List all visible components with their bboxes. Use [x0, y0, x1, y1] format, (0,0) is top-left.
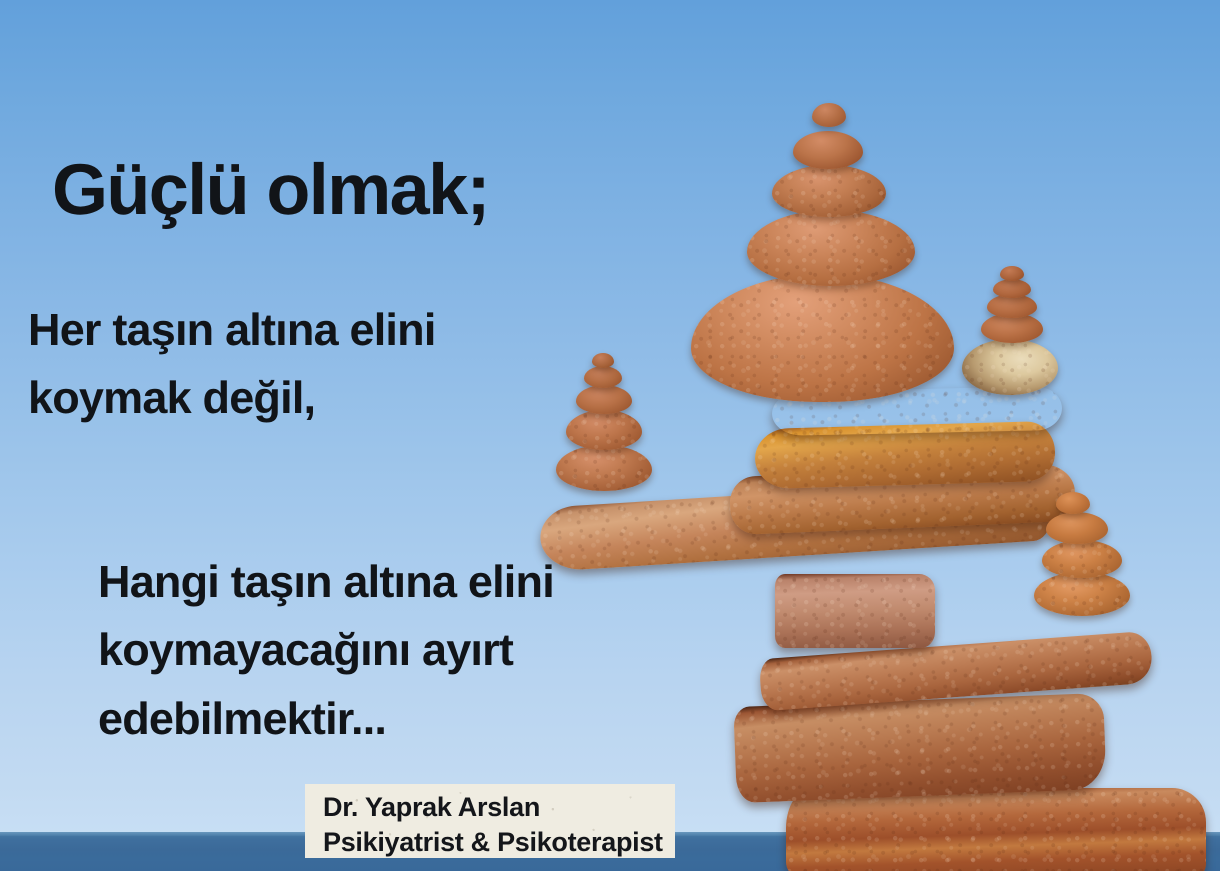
quote-paragraph-1: Her taşın altına elini koymak değil,: [28, 296, 436, 433]
right-lower-cairn-stone-2: [1042, 540, 1122, 578]
right-lower-cairn-stone-1: [1034, 572, 1130, 616]
main-stone-pink-brick: [775, 574, 935, 648]
main-stone-medium-oval: [747, 210, 915, 286]
main-stone-tiny-oval: [793, 131, 863, 169]
right-upper-cairn-cream-base: [962, 339, 1058, 395]
main-stone-small-oval: [772, 165, 886, 217]
right-upper-cairn-stone-4: [993, 279, 1031, 298]
left-cairn-stone-4: [584, 366, 622, 388]
page-title: Güçlü olmak;: [52, 152, 489, 228]
author-name: Dr. Yaprak Arslan: [323, 790, 675, 825]
left-cairn-stone-3: [576, 385, 632, 414]
author-credit-box: Dr. Yaprak Arslan Psikiyatrist & Psikote…: [305, 784, 675, 858]
main-stone-bottom-boulder: [786, 788, 1206, 871]
right-upper-cairn-stone-cap: [1000, 266, 1024, 281]
main-stone-block: [733, 693, 1106, 803]
poster-canvas: Güçlü olmak; Her taşın altına elini koym…: [0, 0, 1220, 871]
main-stone-cap: [812, 103, 846, 127]
left-cairn-stone-1: [556, 445, 652, 491]
left-cairn-stone-cap: [592, 353, 614, 368]
right-lower-cairn-stone-3: [1046, 512, 1108, 544]
quote-paragraph-2: Hangi taşın altına elini koymayacağını a…: [98, 548, 554, 753]
left-cairn-stone-2: [566, 410, 642, 450]
right-lower-cairn-stone-cap: [1056, 492, 1090, 514]
author-profession: Psikiyatrist & Psikoterapist: [323, 825, 675, 858]
